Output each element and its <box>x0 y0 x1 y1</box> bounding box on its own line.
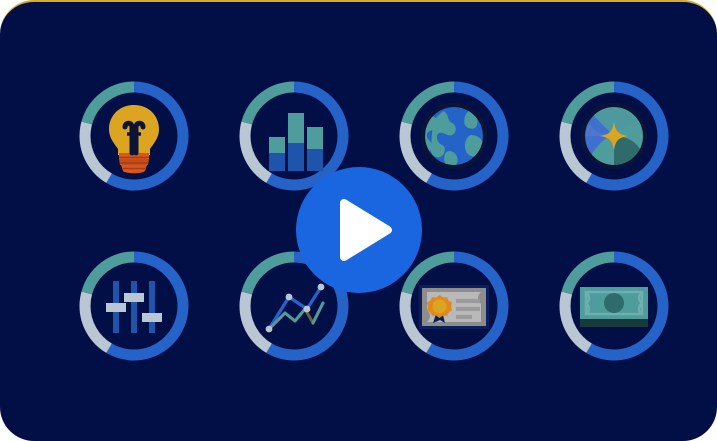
screenshot-root <box>0 0 717 441</box>
lightbulb-icon <box>79 81 189 191</box>
banknote-icon <box>559 251 669 361</box>
video-thumbnail-card <box>0 0 717 441</box>
compass-icon <box>559 81 669 191</box>
badge-compass[interactable] <box>559 81 669 191</box>
badge-idea[interactable] <box>79 81 189 191</box>
play-triangle-icon <box>296 167 422 293</box>
badge-sliders[interactable] <box>79 251 189 361</box>
badge-money[interactable] <box>559 251 669 361</box>
sliders-icon <box>79 251 189 361</box>
play-button[interactable] <box>296 167 422 293</box>
